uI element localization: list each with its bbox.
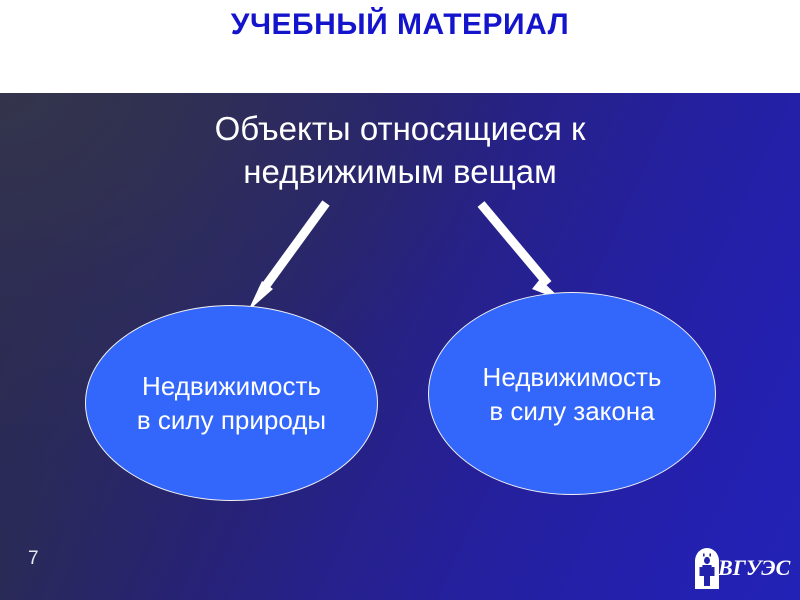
node-label-line-1: Недвижимость: [483, 360, 662, 394]
node-label-line-2: в силу закона: [483, 394, 662, 428]
node-immovable-by-law[interactable]: Недвижимость в силу закона: [428, 292, 716, 495]
slide-header-band: УЧЕБНЫЙ МАТЕРИАЛ: [0, 0, 800, 93]
vgues-logo: ВГУЭС: [692, 545, 796, 591]
slide-title: УЧЕБНЫЙ МАТЕРИАЛ: [0, 8, 800, 42]
node-immovable-by-nature-label: Недвижимость в силу природы: [131, 369, 332, 437]
arrow-to-right-node-icon: [481, 204, 563, 301]
page-number: 7: [28, 548, 39, 570]
node-label-line-1: Недвижимость: [137, 369, 326, 403]
node-immovable-by-law-label: Недвижимость в силу закона: [477, 360, 668, 428]
diagram-heading: Объекты относящиеся к недвижимым вещам: [120, 107, 680, 193]
diagram-heading-line-1: Объекты относящиеся к: [120, 107, 680, 150]
diagram-heading-line-2: недвижимым вещам: [120, 150, 680, 193]
slide-content-area: Объекты относящиеся к недвижимым вещам Н…: [0, 93, 800, 600]
vgues-logo-text: ВГУЭС: [718, 555, 790, 581]
node-immovable-by-nature[interactable]: Недвижимость в силу природы: [85, 305, 378, 501]
node-label-line-2: в силу природы: [137, 403, 326, 437]
slide: УЧЕБНЫЙ МАТЕРИАЛ Объекты относящиеся к н…: [0, 0, 800, 600]
arrow-to-left-node-icon: [248, 203, 326, 311]
